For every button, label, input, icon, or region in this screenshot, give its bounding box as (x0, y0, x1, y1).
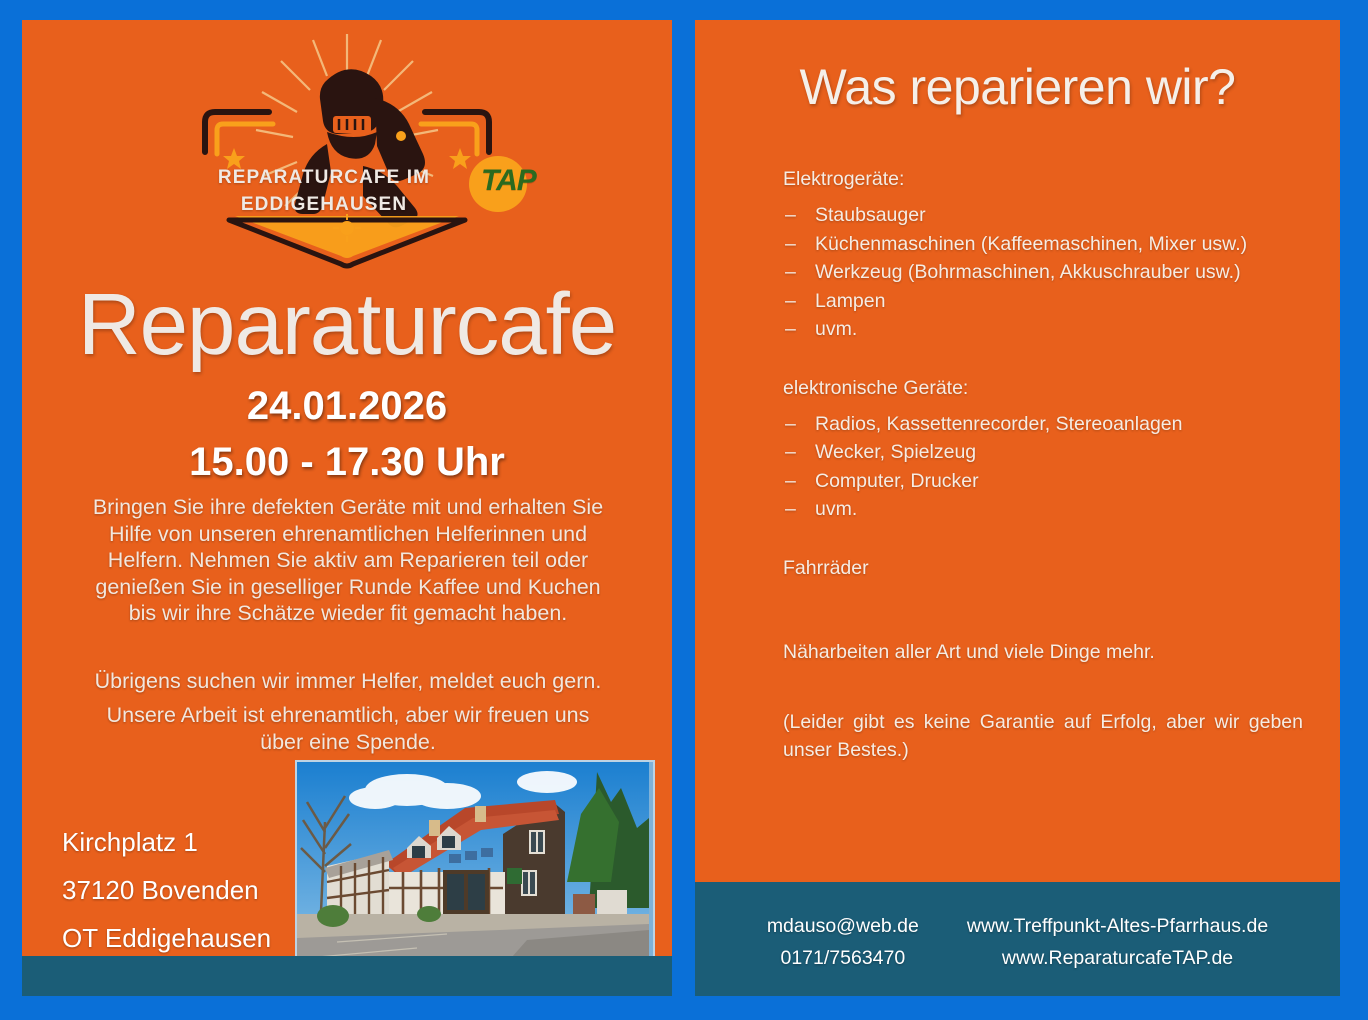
venue-photo (295, 760, 655, 986)
page-title: Reparaturcafe (22, 278, 672, 372)
right-panel-title: Was reparieren wir? (695, 58, 1340, 116)
repair-categories: Elektrogeräte: –Staubsauger –Küchenmasch… (783, 165, 1303, 764)
left-panel: REPARATURCAFE IM EDDIGEHAUSEN TAP Repara… (22, 20, 672, 996)
list-item: –Lampen (783, 287, 1303, 316)
section-heading-electronic: elektronische Geräte: (783, 374, 1303, 402)
right-footer-band: mdauso@web.de 0171/7563470 www.Treffpunk… (695, 882, 1340, 996)
bullet-dash-icon: – (785, 201, 796, 230)
repair-cafe-logo-emblem (177, 20, 517, 270)
list-item-label: Staubsauger (815, 204, 926, 226)
tap-badge: TAP (469, 152, 533, 216)
list-item-label: uvm. (815, 318, 857, 340)
intro-paragraph: Bringen Sie ihre defekten Geräte mit und… (84, 494, 612, 627)
list-item: –uvm. (783, 315, 1303, 344)
donation-line: Unsere Arbeit ist ehrenamtlich, aber wir… (84, 702, 612, 755)
list-item-label: uvm. (815, 498, 857, 520)
left-footer-band (22, 956, 672, 996)
list-item-label: Lampen (815, 290, 885, 312)
address-block: Kirchplatz 1 37120 Bovenden OT Eddigehau… (62, 818, 271, 962)
address-district: OT Eddigehausen (62, 914, 271, 962)
list-item: –Radios, Kassettenrecorder, Stereoanlage… (783, 410, 1303, 439)
tap-label: TAP (481, 164, 536, 198)
list-item-label: Radios, Kassettenrecorder, Stereoanlagen (815, 413, 1182, 435)
bullet-dash-icon: – (785, 315, 796, 344)
contact-phone[interactable]: 0171/7563470 (767, 942, 919, 974)
bullet-dash-icon: – (785, 467, 796, 496)
list-item: –Staubsauger (783, 201, 1303, 230)
list-item: –Computer, Drucker (783, 467, 1303, 496)
bullet-dash-icon: – (785, 438, 796, 467)
list-item-label: Küchenmaschinen (Kaffeemaschinen, Mixer … (815, 233, 1247, 255)
bullet-dash-icon: – (785, 410, 796, 439)
guarantee-note: (Leider gibt es keine Garantie auf Erfol… (783, 708, 1303, 764)
helper-call-line: Übrigens suchen wir immer Helfer, meldet… (84, 668, 612, 695)
list-item: –Wecker, Spielzeug (783, 438, 1303, 467)
contact-website-2[interactable]: www.ReparaturcafeTAP.de (967, 942, 1268, 974)
contact-email[interactable]: mdauso@web.de (767, 910, 919, 942)
list-electrical: –Staubsauger –Küchenmaschinen (Kaffeemas… (783, 201, 1303, 344)
bullet-dash-icon: – (785, 495, 796, 524)
bullet-dash-icon: – (785, 287, 796, 316)
category-sewing: Näharbeiten aller Art und viele Dinge me… (783, 638, 1303, 666)
poster-root: REPARATURCAFE IM EDDIGEHAUSEN TAP Repara… (0, 0, 1368, 1020)
list-item: –Werkzeug (Bohrmaschinen, Akkuschrauber … (783, 258, 1303, 287)
bullet-dash-icon: – (785, 230, 796, 259)
contact-column-right: www.Treffpunkt-Altes-Pfarrhaus.de www.Re… (967, 910, 1268, 974)
list-electronic: –Radios, Kassettenrecorder, Stereoanlage… (783, 410, 1303, 524)
category-bicycles: Fahrräder (783, 554, 1303, 582)
contact-column-left: mdauso@web.de 0171/7563470 (767, 910, 919, 974)
list-item: –uvm. (783, 495, 1303, 524)
contact-columns: mdauso@web.de 0171/7563470 www.Treffpunk… (695, 910, 1340, 974)
list-item-label: Computer, Drucker (815, 470, 979, 492)
address-street: Kirchplatz 1 (62, 818, 271, 866)
event-date: 24.01.2026 (22, 384, 672, 429)
logo-block: REPARATURCAFE IM EDDIGEHAUSEN TAP (22, 20, 672, 270)
contact-website-1[interactable]: www.Treffpunkt-Altes-Pfarrhaus.de (967, 910, 1268, 942)
list-item-label: Werkzeug (Bohrmaschinen, Akkuschrauber u… (815, 261, 1241, 283)
list-item: –Küchenmaschinen (Kaffeemaschinen, Mixer… (783, 230, 1303, 259)
list-item-label: Wecker, Spielzeug (815, 441, 976, 463)
half-timbered-house-illustration (297, 762, 649, 980)
right-panel: Was reparieren wir? Elektrogeräte: –Stau… (695, 20, 1340, 996)
section-heading-electrical: Elektrogeräte: (783, 165, 1303, 193)
address-city: 37120 Bovenden (62, 866, 271, 914)
bullet-dash-icon: – (785, 258, 796, 287)
event-time: 15.00 - 17.30 Uhr (22, 440, 672, 485)
